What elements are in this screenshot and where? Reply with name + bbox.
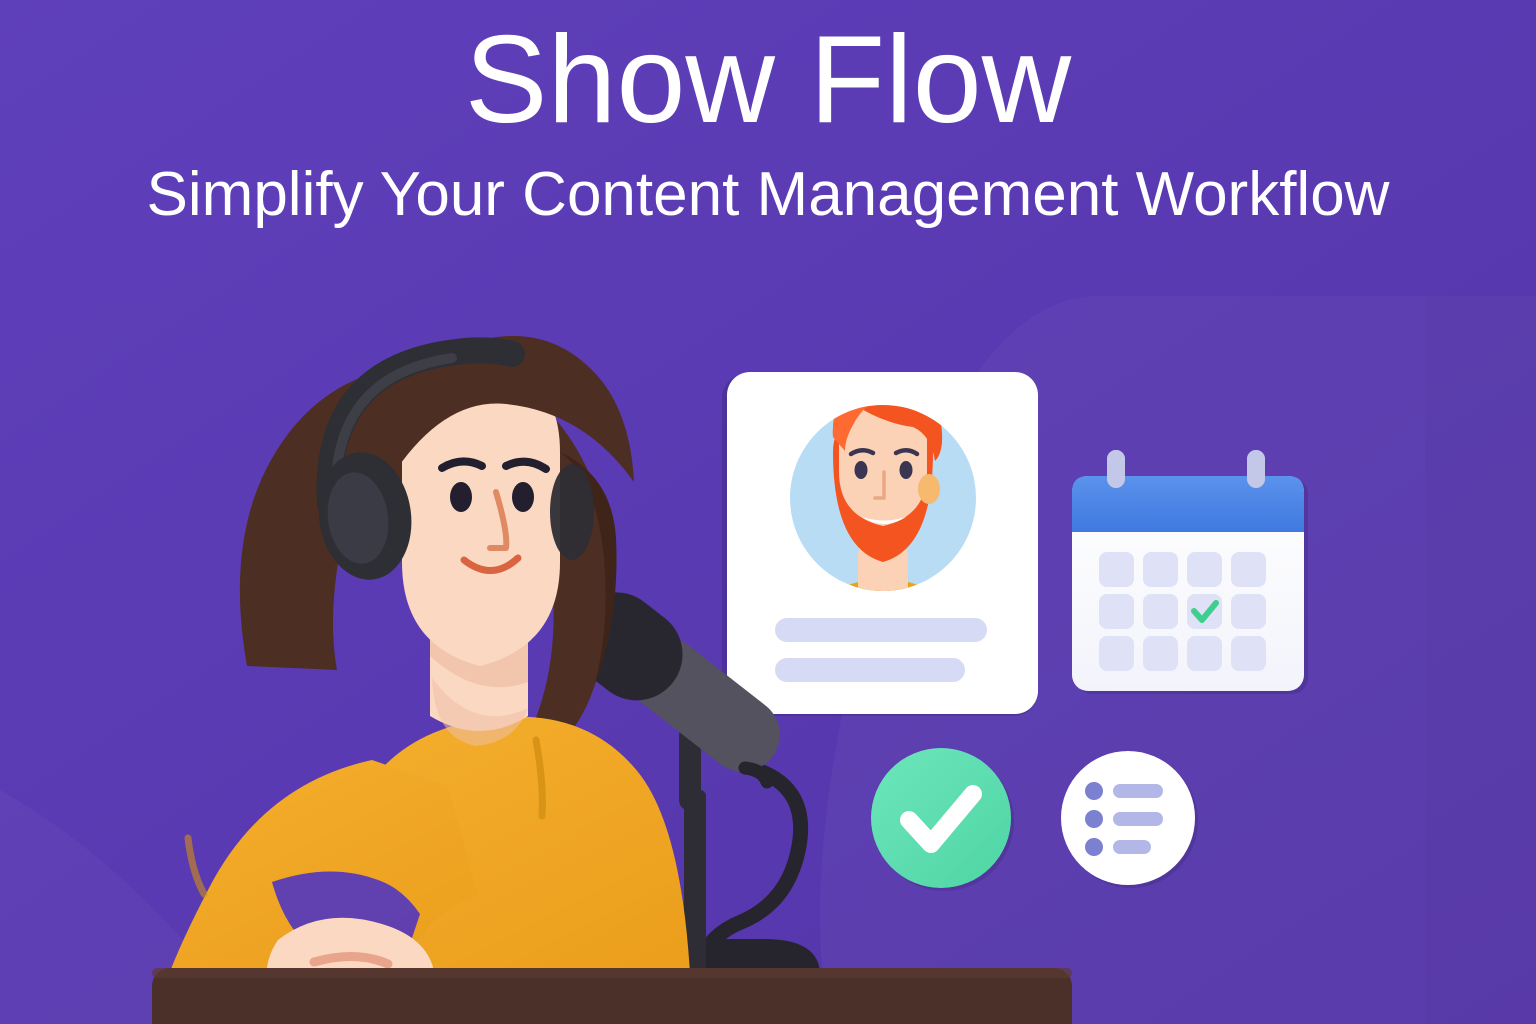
eye-right <box>512 482 534 512</box>
calendar-header-bar <box>1072 476 1304 532</box>
episode-list-badge[interactable] <box>1061 751 1198 888</box>
profile-placeholder-line-1 <box>775 618 987 642</box>
desk-surface <box>152 968 1072 1024</box>
poster-canvas: Show Flow Simplify Your Content Manageme… <box>0 0 1536 1024</box>
profile-placeholder-line-2 <box>775 658 965 682</box>
task-complete-badge[interactable] <box>871 748 1014 891</box>
eye-left <box>450 482 472 512</box>
guest-profile-card[interactable] <box>722 372 1038 716</box>
illustration-layer <box>0 0 1536 1024</box>
calendar-widget[interactable] <box>1072 450 1308 694</box>
